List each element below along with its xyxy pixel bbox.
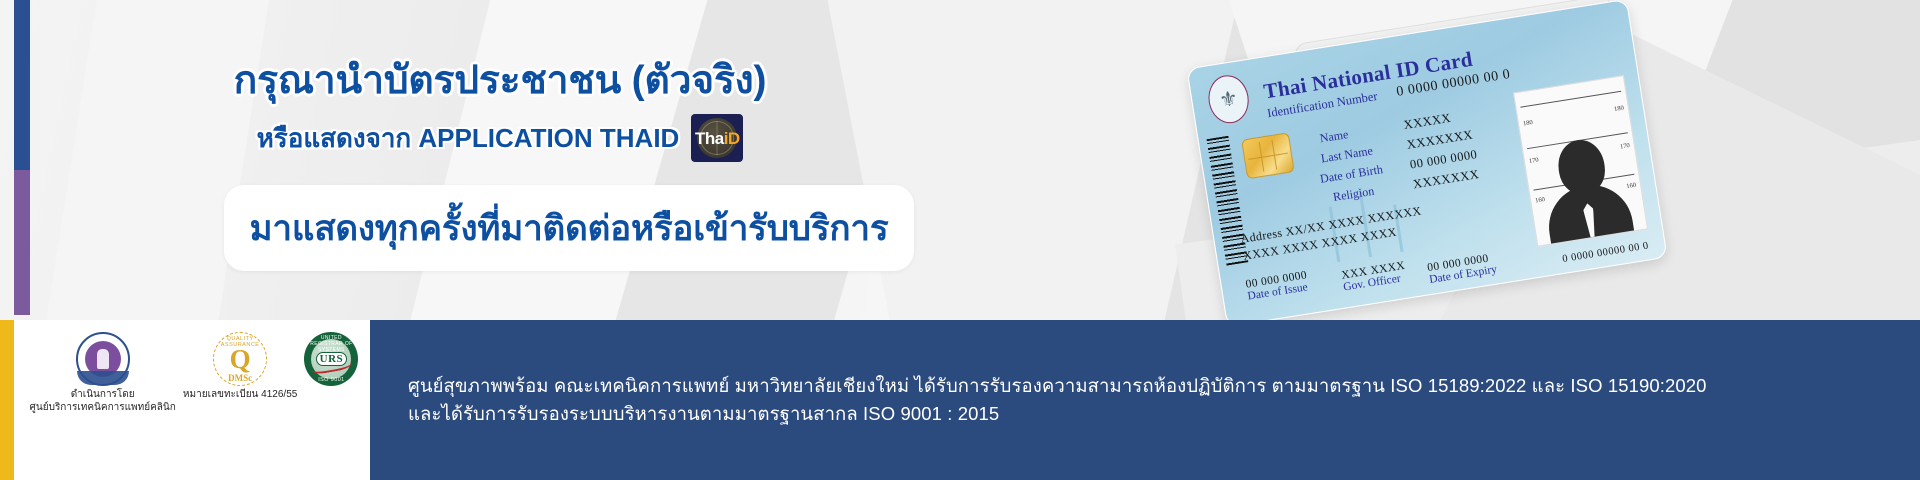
urs-seal-bottom-text: ISO 9001 <box>304 377 358 383</box>
garuda-emblem-icon: ⚜ <box>1205 72 1252 126</box>
portrait-silhouette-icon <box>1533 120 1635 244</box>
photo-ruler-line-1 <box>1520 91 1621 108</box>
footer-logo-clinic: ดำเนินการโดย ศูนย์บริการเทคนิคการแพทย์คล… <box>30 332 176 414</box>
id-card-reminder-banner: กรุณานำบัตรประชาชน (ตัวจริง) หรือแสดงจาก… <box>0 0 1920 480</box>
card-field-name-label: Name <box>1319 127 1349 145</box>
footer-accent-yellow <box>0 320 14 480</box>
headline-block: กรุณานำบัตรประชาชน (ตัวจริง) หรือแสดงจาก… <box>0 58 1000 162</box>
card-photo: 180 180 170 170 160 160 <box>1513 75 1648 247</box>
accent-bar-purple <box>14 170 30 315</box>
headline-secondary: หรือแสดงจาก APPLICATION THAID <box>257 118 680 159</box>
photo-ruler-label-right-1: 180 <box>1614 105 1625 113</box>
dmsc-seal-q-glyph: Q <box>230 346 251 373</box>
footer-logo-dmsc: QUALITY ASSURANCE Q DMSc หมายเลขทะเบียน … <box>183 332 297 402</box>
dmsc-seal-top-text: QUALITY ASSURANCE <box>214 336 266 348</box>
callout-text: มาแสดงทุกครั้งที่มาติดต่อหรือเข้ารับบริก… <box>250 201 889 256</box>
thaid-text-orange: iD <box>724 129 740 148</box>
clinic-seal-icon <box>76 332 130 386</box>
clinic-seal-caption: ดำเนินการโดย ศูนย์บริการเทคนิคการแพทย์คล… <box>30 389 176 414</box>
clinic-seal-glyph <box>97 349 109 369</box>
thaid-text-white: Tha <box>695 129 724 148</box>
footer-text-line-2: และได้รับการรับรองระบบบริหารงานตามมาตรฐา… <box>408 400 1920 428</box>
headline-secondary-row: หรือแสดงจาก APPLICATION THAID ThaiD <box>0 114 1000 162</box>
urs-seal-icon: UNITED REGISTRAR OF SYSTEMS URS ISO 9001 <box>304 332 358 386</box>
dmsc-seal-icon: QUALITY ASSURANCE Q DMSc <box>213 332 267 386</box>
clinic-seal-ribbon <box>77 371 129 385</box>
footer-accreditation-text: ศูนย์สุขภาพพร้อม คณะเทคนิคการแพทย์ มหาวิ… <box>370 320 1920 480</box>
thai-national-id-card: ⚜ Thai National ID Card Identification N… <box>1186 0 1667 327</box>
dmsc-seal-bottom-text: DMSc <box>214 373 266 383</box>
urs-seal-top-text: UNITED REGISTRAR OF SYSTEMS <box>304 335 358 353</box>
footer-logo-group: ดำเนินการโดย ศูนย์บริการเทคนิคการแพทย์คล… <box>14 320 370 480</box>
thaid-logo: ThaiD <box>691 114 743 162</box>
footer-bar: ดำเนินการโดย ศูนย์บริการเทคนิคการแพทย์คล… <box>0 320 1920 480</box>
footer-text-line-1: ศูนย์สุขภาพพร้อม คณะเทคนิคการแพทย์ มหาวิ… <box>408 372 1920 400</box>
callout-card: มาแสดงทุกครั้งที่มาติดต่อหรือเข้ารับบริก… <box>224 185 914 271</box>
card-field-name: Name <box>1318 125 1349 147</box>
footer-logo-urs: UNITED REGISTRAR OF SYSTEMS URS ISO 9001 <box>304 332 358 389</box>
dmsc-seal-caption: หมายเลขทะเบียน 4126/55 <box>183 389 297 402</box>
headline-primary: กรุณานำบัตรประชาชน (ตัวจริง) <box>0 58 1000 104</box>
smartcard-chip-icon <box>1241 132 1295 179</box>
photo-ruler-label-left-1: 180 <box>1523 119 1534 127</box>
thaid-logo-text: ThaiD <box>695 130 740 147</box>
id-card-illustration: ⚜ Thai National ID Card Identification N… <box>1190 10 1890 310</box>
